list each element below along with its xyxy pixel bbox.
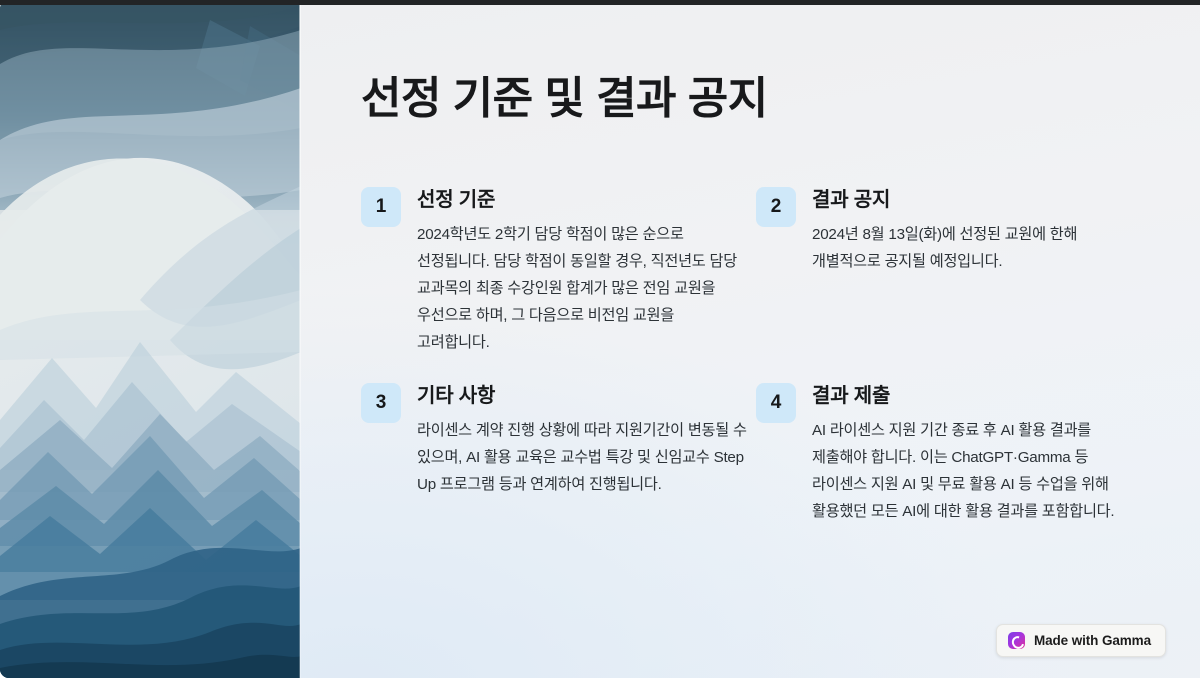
item-heading: 결과 공지	[812, 187, 1142, 213]
item-number-badge: 4	[756, 383, 796, 423]
item-number-badge: 2	[756, 187, 796, 227]
decorative-image-panel	[0, 0, 301, 678]
item-number-badge: 3	[361, 383, 401, 423]
item-body: 결과 공지 2024년 8월 13일(화)에 선정된 교원에 한해 개별적으로 …	[812, 186, 1142, 275]
item-text: 2024학년도 2학기 담당 학점이 많은 순으로 선정됩니다. 담당 학점이 …	[417, 221, 747, 356]
page-title: 선정 기준 및 결과 공지	[361, 72, 1141, 126]
item-heading: 기타 사항	[417, 383, 747, 409]
list-item: 3 기타 사항 라이센스 계약 진행 상황에 따라 지원기간이 변동될 수 있으…	[361, 382, 756, 525]
list-item: 4 결과 제출 AI 라이센스 지원 기간 종료 후 AI 활용 결과를 제출해…	[756, 382, 1151, 525]
slide-root: 선정 기준 및 결과 공지 1 선정 기준 2024학년도 2학기 담당 학점이…	[0, 0, 1200, 678]
item-body: 기타 사항 라이센스 계약 진행 상황에 따라 지원기간이 변동될 수 있으며,…	[417, 382, 747, 498]
item-text: 2024년 8월 13일(화)에 선정된 교원에 한해 개별적으로 공지될 예정…	[812, 221, 1142, 275]
gamma-badge-label: Made with Gamma	[1034, 633, 1151, 648]
list-item: 1 선정 기준 2024학년도 2학기 담당 학점이 많은 순으로 선정됩니다.…	[361, 186, 756, 356]
item-text: AI 라이센스 지원 기간 종료 후 AI 활용 결과를 제출해야 합니다. 이…	[812, 417, 1142, 525]
top-edge-strip	[0, 0, 1200, 5]
made-with-gamma-badge[interactable]: Made with Gamma	[996, 624, 1166, 657]
item-body: 선정 기준 2024학년도 2학기 담당 학점이 많은 순으로 선정됩니다. 담…	[417, 186, 747, 356]
item-heading: 결과 제출	[812, 383, 1142, 409]
item-heading: 선정 기준	[417, 187, 747, 213]
item-text: 라이센스 계약 진행 상황에 따라 지원기간이 변동될 수 있으며, AI 활용…	[417, 417, 747, 498]
gamma-logo-icon	[1008, 632, 1025, 649]
list-item: 2 결과 공지 2024년 8월 13일(화)에 선정된 교원에 한해 개별적으…	[756, 186, 1151, 356]
mountain-illustration-icon	[0, 0, 301, 678]
item-number-badge: 1	[361, 187, 401, 227]
panel-divider	[299, 0, 301, 678]
item-body: 결과 제출 AI 라이센스 지원 기간 종료 후 AI 활용 결과를 제출해야 …	[812, 382, 1142, 525]
items-grid: 1 선정 기준 2024학년도 2학기 담당 학점이 많은 순으로 선정됩니다.…	[361, 186, 1161, 525]
